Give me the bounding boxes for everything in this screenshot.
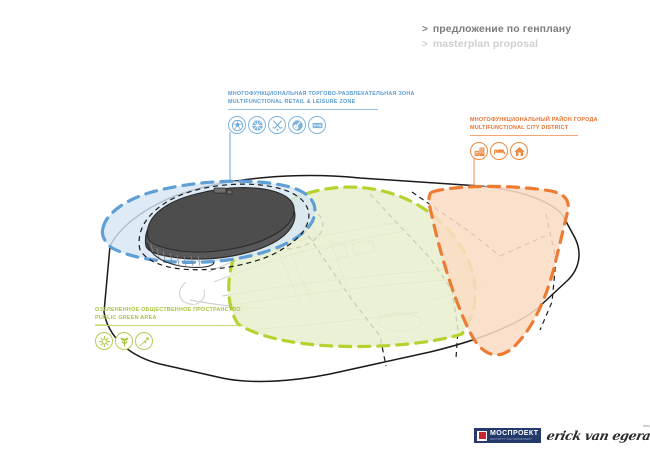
guitar-icon[interactable] [288,116,306,134]
legend-retail-rule [228,109,378,110]
legend-retail-icons: P+R [228,116,415,134]
legend-green-title-ru: ОЗЕЛЕНЕННОЕ ОБЩЕСТВЕННОЕ ПРОСТРАНСТВО [95,306,243,314]
sprout-icon[interactable] [115,332,133,350]
designer-credit: designed by erick van egeraat [547,428,650,443]
mosproekt-logo-name: МОСПРОЕКТ [490,430,538,437]
slide-canvas: > предложение по генплану > masterplan p… [0,0,650,459]
office-building-icon[interactable] [470,142,488,160]
legend-city-district: МНОГОФУНКЦИОНАЛЬНЫЙ РАЙОН ГОРОДА MULTIFU… [470,116,598,160]
legend-green-icons [95,332,243,350]
legend-city-title-en: MULTIFUNCTIONAL CITY DISTRICT [470,124,598,132]
basketball-icon[interactable] [248,116,266,134]
bird-icon[interactable] [135,332,153,350]
legend-retail-title-en: MULTIFUNCTIONAL RETAIL & LEISURE ZONE [228,98,415,106]
legend-retail-leisure: МНОГОФУНКЦИОНАЛЬНАЯ ТОРГОВО-РАЗВЛЕКАТЕЛЬ… [228,90,415,134]
legend-green-rule [95,325,243,326]
mosproekt-logo-subtitle: ИНСТИТУТ ОАО МОСПРОЕКТ [490,438,538,441]
legend-green-title-en: PUBLIC GREEN AREA [95,314,243,322]
mosproekt-logo: МОСПРОЕКТ ИНСТИТУТ ОАО МОСПРОЕКТ [474,428,541,443]
legend-public-green: ОЗЕЛЕНЕННОЕ ОБЩЕСТВЕННОЕ ПРОСТРАНСТВО PU… [95,306,243,350]
designer-signature: erick van egeraat [546,428,650,443]
hotel-bed-icon[interactable] [490,142,508,160]
legend-city-rule [470,135,578,136]
legend-city-icons [470,142,598,160]
hockey-sticks-icon[interactable] [268,116,286,134]
house-icon[interactable] [510,142,528,160]
soccer-ball-icon[interactable] [228,116,246,134]
mosproekt-mark-icon [477,431,487,441]
slide-footer: МОСПРОЕКТ ИНСТИТУТ ОАО МОСПРОЕКТ designe… [474,428,650,443]
ticket-sign-icon[interactable]: P+R [308,116,326,134]
svg-text:P+R: P+R [313,123,321,128]
masterplan-diagram [0,0,650,459]
legend-city-title-ru: МНОГОФУНКЦИОНАЛЬНЫЙ РАЙОН ГОРОДА [470,116,598,124]
sun-icon[interactable] [95,332,113,350]
legend-retail-title-ru: МНОГОФУНКЦИОНАЛЬНАЯ ТОРГОВО-РАЗВЛЕКАТЕЛЬ… [228,90,415,98]
